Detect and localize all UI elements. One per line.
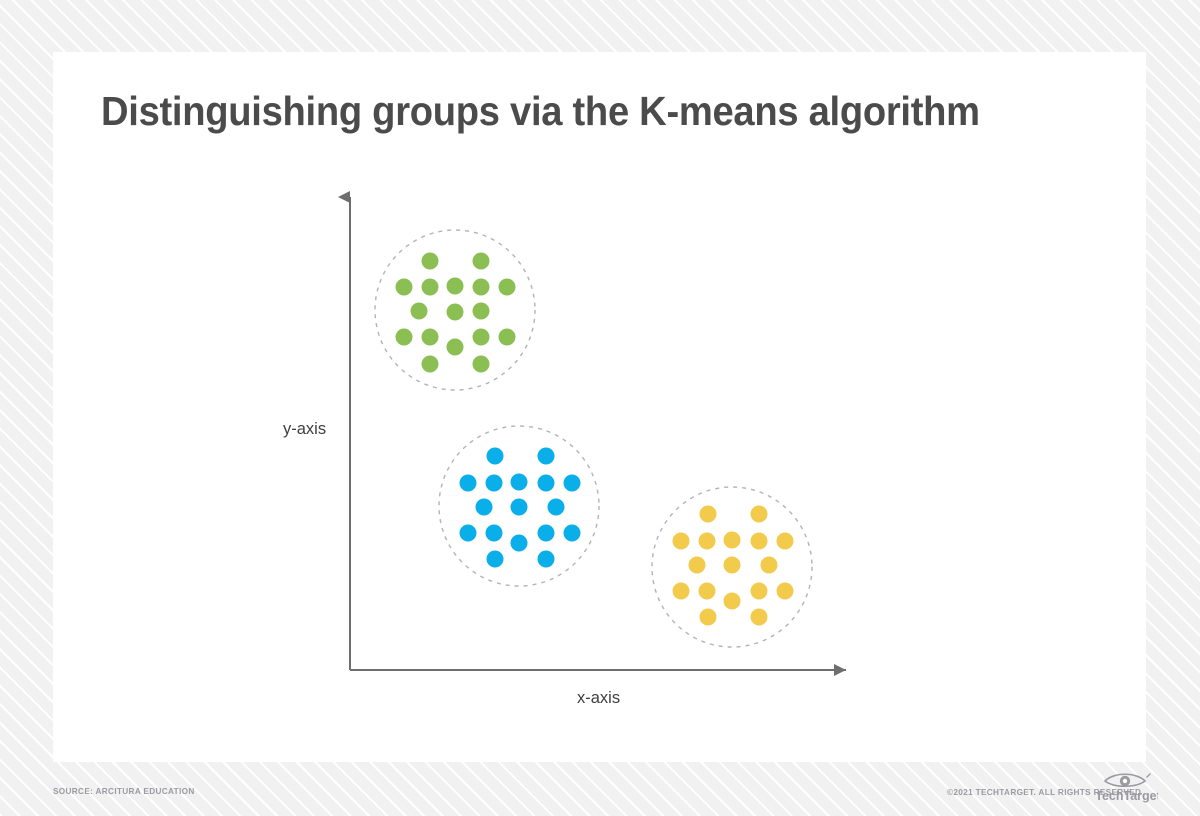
- data-point: [673, 583, 690, 600]
- data-point: [538, 525, 555, 542]
- green-cluster: [375, 230, 535, 390]
- data-point: [476, 499, 493, 516]
- eye-icon: [1105, 774, 1150, 786]
- data-point: [777, 533, 794, 550]
- blue-cluster: [439, 426, 599, 586]
- techtarget-logo: TechTarget: [1098, 770, 1158, 804]
- yellow-cluster: [652, 487, 812, 647]
- data-point: [486, 525, 503, 542]
- data-point: [699, 583, 716, 600]
- x-axis-label: x-axis: [577, 689, 620, 708]
- data-point: [447, 304, 464, 321]
- data-point: [499, 329, 516, 346]
- data-point: [447, 278, 464, 295]
- data-point: [564, 525, 581, 542]
- scatter-plot-svg: [53, 52, 1146, 762]
- data-point: [751, 506, 768, 523]
- data-point: [473, 303, 490, 320]
- data-point: [422, 356, 439, 373]
- data-point: [473, 329, 490, 346]
- data-point: [564, 475, 581, 492]
- data-point: [751, 583, 768, 600]
- data-point: [447, 339, 464, 356]
- data-point: [396, 279, 413, 296]
- data-point: [538, 551, 555, 568]
- data-point: [422, 329, 439, 346]
- data-point: [777, 583, 794, 600]
- data-point: [511, 474, 528, 491]
- data-point: [511, 535, 528, 552]
- data-point: [689, 557, 706, 574]
- data-point: [460, 525, 477, 542]
- y-axis-label: y-axis: [283, 420, 326, 439]
- data-point: [538, 475, 555, 492]
- axes-group: [350, 197, 846, 670]
- data-point: [724, 532, 741, 549]
- data-point: [724, 593, 741, 610]
- data-point: [548, 499, 565, 516]
- data-point: [499, 279, 516, 296]
- data-point: [751, 609, 768, 626]
- data-point: [538, 448, 555, 465]
- data-point: [487, 448, 504, 465]
- data-point: [673, 533, 690, 550]
- data-point: [473, 279, 490, 296]
- data-point: [473, 253, 490, 270]
- source-note: SOURCE: ARCITURA EDUCATION: [53, 787, 195, 796]
- content-card: Distinguishing groups via the K-means al…: [53, 52, 1146, 762]
- clusters-group: [375, 230, 812, 647]
- data-point: [487, 551, 504, 568]
- data-point: [460, 475, 477, 492]
- data-point: [411, 303, 428, 320]
- kmeans-scatter-figure: y-axis x-axis: [53, 52, 1146, 762]
- techtarget-wordmark: TechTarget: [1098, 789, 1158, 803]
- data-point: [422, 253, 439, 270]
- data-point: [699, 533, 716, 550]
- data-point: [700, 609, 717, 626]
- data-point: [422, 279, 439, 296]
- data-point: [751, 533, 768, 550]
- data-point: [724, 557, 741, 574]
- data-point: [473, 356, 490, 373]
- data-point: [486, 475, 503, 492]
- data-point: [396, 329, 413, 346]
- data-point: [511, 499, 528, 516]
- data-point: [700, 506, 717, 523]
- data-point: [761, 557, 778, 574]
